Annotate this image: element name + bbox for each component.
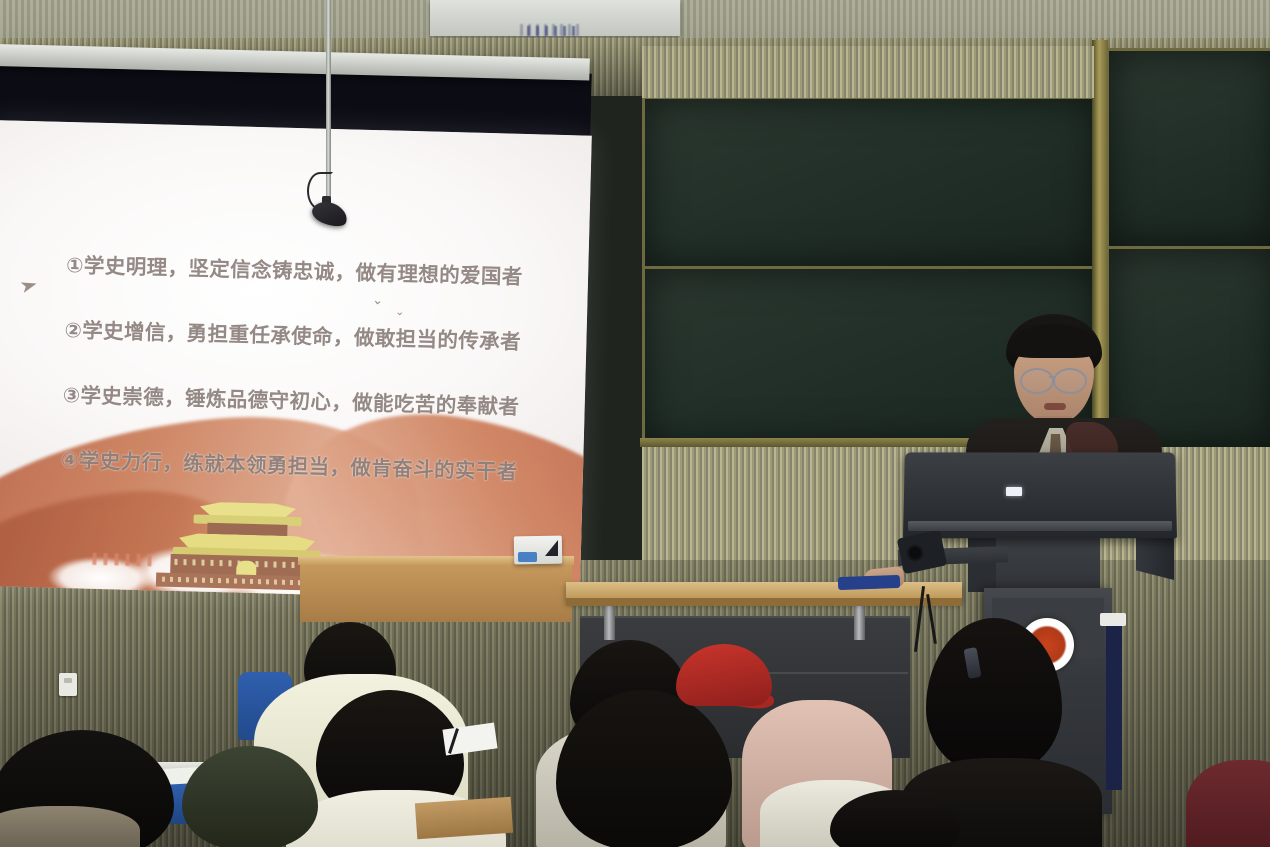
blackboard-top-left	[642, 96, 1100, 270]
teacher-desk-edge	[566, 598, 962, 606]
podium-monitor-base-edge	[908, 521, 1172, 531]
podium-white-band	[1100, 613, 1126, 626]
glasses-right-lens-icon	[1053, 368, 1087, 394]
bird-silhouette-icon-3: ⌄	[395, 305, 405, 319]
blackboard-top-right	[1106, 48, 1270, 250]
white-device-box-label	[518, 552, 537, 562]
behind-board-panel	[642, 46, 1094, 98]
lecture-hall-photo: ①学史明理，坚定信念铸忠诚，做有理想的爱国者 ②学史增信，勇担重任承使命，做敢担…	[0, 0, 1270, 847]
screen-brand-logo-icon	[527, 26, 581, 36]
wooden-desk-surface	[415, 797, 513, 840]
glasses-left-lens-icon	[1020, 368, 1054, 394]
podium-monitor-neck	[968, 536, 996, 592]
mouse-pad	[838, 575, 900, 590]
front-wood-ledge	[300, 562, 572, 622]
wall-outlet-icon	[59, 673, 77, 696]
gate-flags-left-icon	[92, 553, 154, 567]
document-camera-lens-icon	[906, 544, 924, 562]
podium-mid-column	[996, 530, 1100, 592]
projection-screen: ①学史明理，坚定信念铸忠诚，做有理想的爱国者 ②学史增信，勇担重任承使命，做敢担…	[0, 120, 592, 602]
slide-line-4: ④学史力行，练就本领勇担当，做肯奋斗的实干者	[61, 443, 562, 486]
podium-blue-stripe	[1106, 620, 1122, 790]
microphone-pole	[326, 0, 331, 198]
teacher-desk-leg-right	[854, 604, 865, 640]
glasses-bridge	[1049, 376, 1056, 378]
lecturer-mouth	[1044, 403, 1066, 410]
student-coat	[0, 806, 140, 847]
teacher-desk-leg-left	[604, 604, 615, 640]
slide-line-2: ②学史增信，勇担重任承使命，做敢担当的传承者	[64, 313, 565, 356]
podium-monitor-logo-icon	[1006, 487, 1022, 496]
slide-text-block: ①学史明理，坚定信念铸忠诚，做有理想的爱国者 ②学史增信，勇担重任承使命，做敢担…	[60, 248, 567, 521]
slide-line-3: ③学史崇德，锤炼品德守初心，做能吃苦的奉献者	[62, 378, 563, 421]
